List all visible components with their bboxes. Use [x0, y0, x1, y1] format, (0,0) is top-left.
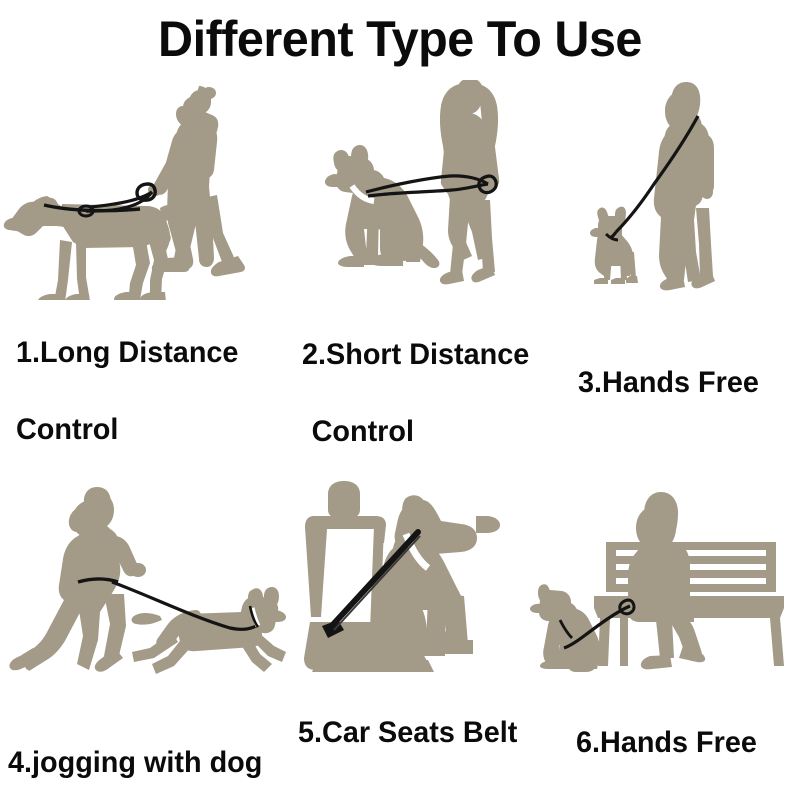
- infographic-page: Different Type To Use: [0, 0, 800, 800]
- page-title: Different Type To Use: [12, 14, 788, 64]
- caption-panel-6: 6.Hands Free: [576, 686, 797, 763]
- caption-panel-1: 1.Long Distance Control: [16, 296, 285, 450]
- panel-long-distance-control: [0, 80, 290, 300]
- caption-panel-2: 2.Short Distance Control: [302, 298, 580, 452]
- caption-line-2: Control: [312, 413, 414, 451]
- caption-line-2: Control: [16, 413, 118, 446]
- panel-hands-free-walking: [580, 80, 800, 300]
- caption-line-1: 3.Hands Free: [578, 366, 759, 399]
- caption-panel-3: 3.Hands Free: [578, 326, 799, 403]
- caption-panel-5: 5.Car Seats Belt: [298, 676, 548, 753]
- caption-line-1: 1.Long Distance: [16, 336, 238, 369]
- caption-line-1: 2.Short Distance: [302, 338, 529, 371]
- illustration-jogger-with-running-dog: [0, 470, 310, 690]
- panel-car-seats-belt: [300, 480, 540, 680]
- illustration-woman-on-bench-with-dog: [530, 490, 800, 680]
- illustration-woman-short-leash-dog: [300, 80, 580, 300]
- panel-short-distance-control: [300, 80, 580, 300]
- illustration-person-walking-dog: [0, 80, 290, 300]
- illustration-dog-on-car-seat: [300, 480, 540, 680]
- caption-panel-4: 4.jogging with dog: [8, 706, 315, 783]
- caption-line-1: 6.Hands Free: [576, 726, 757, 759]
- illustration-crossbody-leash-small-dog: [580, 80, 800, 300]
- panel-jogging-with-dog: [0, 470, 310, 690]
- panel-hands-free-bench: [530, 490, 800, 680]
- caption-line-1: 4.jogging with dog: [8, 746, 262, 779]
- caption-line-1: 5.Car Seats Belt: [298, 716, 517, 749]
